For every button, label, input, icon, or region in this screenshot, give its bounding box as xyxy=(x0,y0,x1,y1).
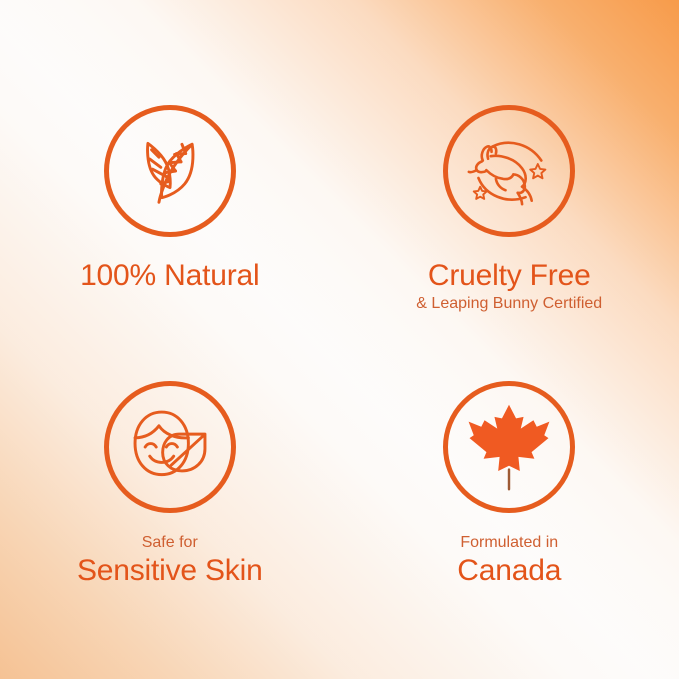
badge-natural-ring xyxy=(104,105,236,237)
badge-canada-caption: Formulated in Canada xyxy=(457,535,561,586)
badge-natural-caption: 100% Natural xyxy=(80,261,259,291)
badge-natural-title: 100% Natural xyxy=(80,261,259,291)
badge-cruelty-free: Cruelty Free & Leaping Bunny Certified xyxy=(340,0,679,340)
face-with-leaf-icon xyxy=(122,401,218,493)
badge-sensitive-skin-caption: Safe for Sensitive Skin xyxy=(77,535,263,586)
maple-leaf-icon xyxy=(462,400,556,494)
badge-cruelty-free-subtitle: & Leaping Bunny Certified xyxy=(416,296,602,312)
badge-canada-title: Canada xyxy=(457,556,561,586)
badge-grid: 100% Natural xyxy=(0,0,679,679)
badge-cruelty-free-caption: Cruelty Free & Leaping Bunny Certified xyxy=(416,261,602,312)
badge-canada-eyebrow: Formulated in xyxy=(457,535,561,551)
badge-natural: 100% Natural xyxy=(0,0,340,340)
badge-sensitive-skin-ring xyxy=(104,381,236,513)
leaping-bunny-icon xyxy=(461,129,557,213)
badge-sensitive-skin: Safe for Sensitive Skin xyxy=(0,340,340,679)
badge-sensitive-skin-eyebrow: Safe for xyxy=(77,535,263,551)
badge-canada: Formulated in Canada xyxy=(340,340,679,679)
badge-cruelty-free-title: Cruelty Free xyxy=(416,261,602,291)
leaves-icon xyxy=(124,125,216,217)
badge-cruelty-free-ring xyxy=(443,105,575,237)
badge-board: 100% Natural xyxy=(0,0,679,679)
badge-sensitive-skin-title: Sensitive Skin xyxy=(77,556,263,586)
badge-canada-ring xyxy=(443,381,575,513)
